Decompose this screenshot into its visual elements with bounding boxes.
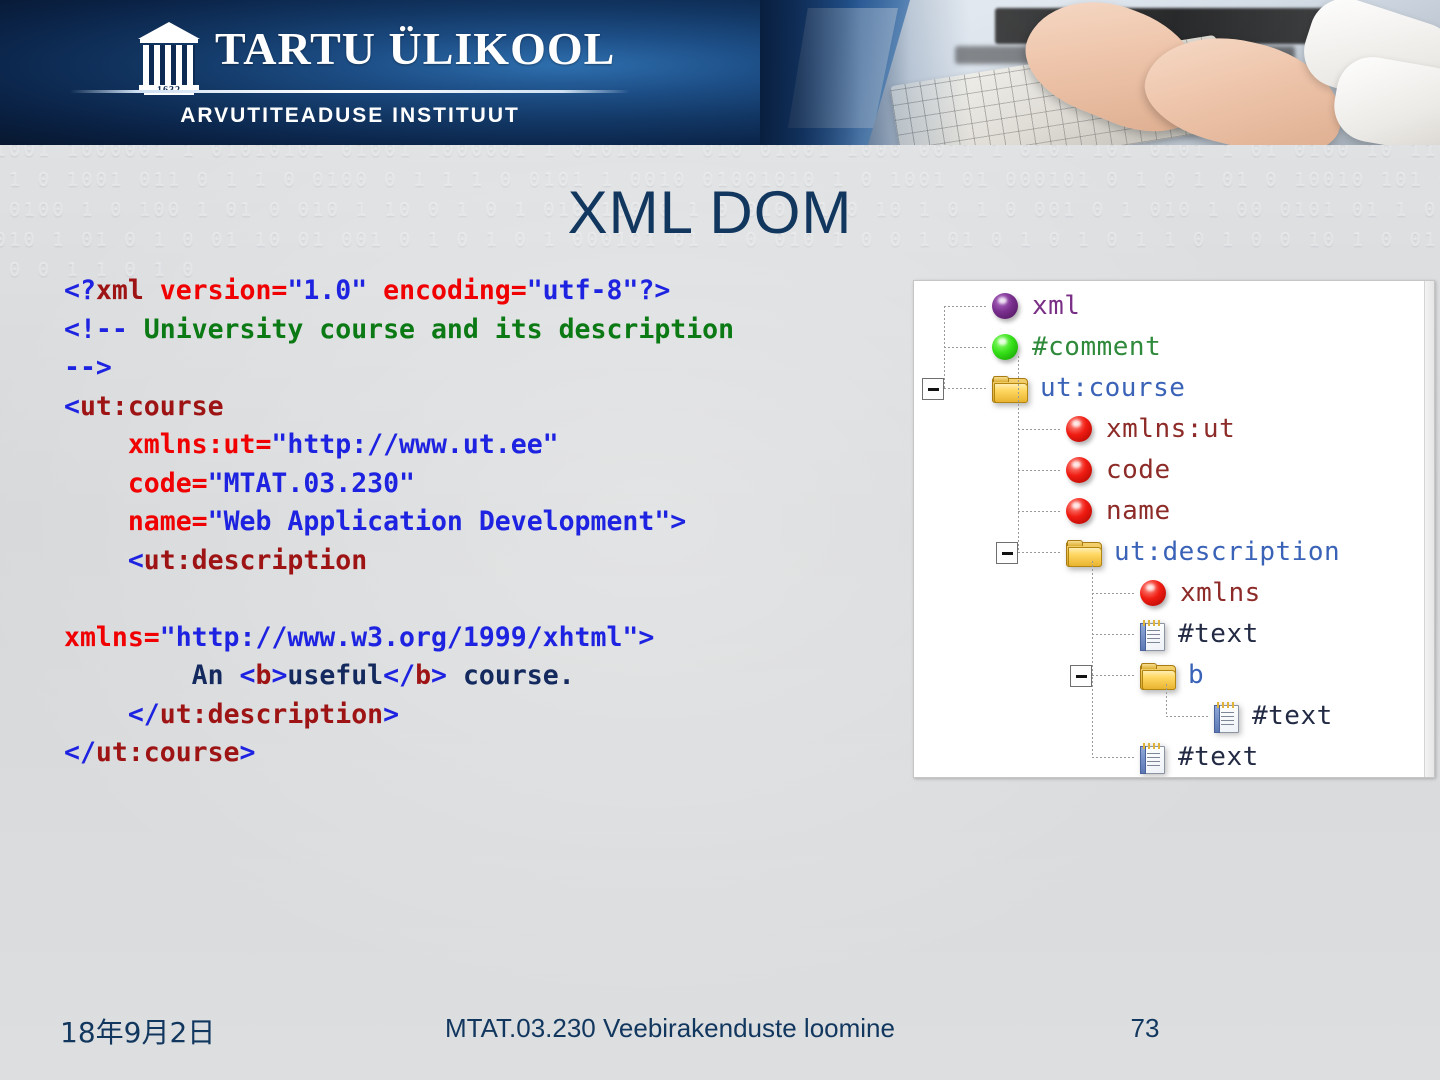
tree-node[interactable]: #text bbox=[1140, 615, 1259, 653]
tree-node-label: xmlns bbox=[1180, 578, 1261, 608]
code-token: ut:description bbox=[144, 545, 367, 576]
university-name: TARTU ÜLIKOOL bbox=[215, 22, 615, 75]
tree-node[interactable]: name bbox=[1066, 492, 1171, 530]
dom-tree[interactable]: xml#commentut:coursexmlns:utcodenameut:d… bbox=[914, 281, 1419, 777]
code-token: encoding= bbox=[383, 275, 527, 306]
code-line: xmlns:ut="http://www.ut.ee" bbox=[64, 426, 924, 465]
code-token bbox=[64, 699, 128, 730]
code-token: ut:description bbox=[160, 699, 383, 730]
minus-bar bbox=[928, 388, 939, 391]
code-token: version= bbox=[160, 275, 288, 306]
red-sphere-icon bbox=[1066, 416, 1092, 442]
folder-icon bbox=[1140, 663, 1174, 688]
notepad-spine bbox=[1214, 705, 1220, 733]
tree-node[interactable]: b bbox=[1140, 656, 1204, 694]
tree-connector-vertical bbox=[944, 306, 945, 388]
code-token: </ bbox=[64, 737, 96, 768]
code-token: course. bbox=[447, 660, 575, 691]
code-token bbox=[64, 468, 128, 499]
code-token: ut:course bbox=[96, 737, 240, 768]
header-photo bbox=[760, 0, 1440, 145]
code-token: < bbox=[128, 545, 144, 576]
university-crest-icon: 1632 bbox=[138, 22, 200, 100]
tree-expander-minus-icon[interactable] bbox=[996, 542, 1018, 564]
notepad-lines bbox=[1147, 630, 1160, 645]
code-token: An bbox=[64, 660, 240, 691]
folder-front bbox=[1142, 670, 1176, 690]
notepad-lines bbox=[1221, 712, 1234, 727]
slide-footer: 18年9月2日 MTAT.03.230 Veebirakenduste loom… bbox=[0, 1005, 1440, 1060]
tree-node-label: xml bbox=[1032, 291, 1080, 321]
tree-node-label: name bbox=[1106, 496, 1171, 526]
code-token: <? bbox=[64, 275, 96, 306]
purple-sphere-icon bbox=[992, 293, 1018, 319]
tree-connector bbox=[1018, 429, 1062, 430]
footer-date: 18年9月2日 bbox=[60, 1011, 215, 1051]
slide-root: 01001 1000001 1 01010101 01001 1000001 1… bbox=[0, 0, 1440, 1080]
folder-icon bbox=[992, 376, 1026, 401]
tree-node-label: #text bbox=[1252, 701, 1333, 731]
code-token: > bbox=[670, 506, 686, 537]
code-token: xml bbox=[96, 275, 160, 306]
notepad-icon bbox=[1140, 743, 1164, 772]
tree-connector-vertical bbox=[1092, 561, 1093, 757]
tree-connector bbox=[944, 306, 988, 307]
code-token: name= bbox=[128, 506, 208, 537]
tree-node[interactable]: code bbox=[1066, 451, 1171, 489]
folder-tab bbox=[1067, 540, 1083, 546]
tree-connector bbox=[1018, 470, 1062, 471]
notepad-icon bbox=[1214, 702, 1238, 731]
notepad-rings bbox=[1217, 702, 1237, 708]
code-token: University course and its description bbox=[144, 314, 734, 345]
tree-node[interactable]: xmlns:ut bbox=[1066, 410, 1235, 448]
folder-tab bbox=[1141, 663, 1157, 669]
tree-connector bbox=[944, 347, 988, 348]
minus-bar bbox=[1002, 552, 1013, 555]
code-token: > bbox=[431, 660, 447, 691]
folder-front bbox=[994, 383, 1028, 403]
code-token: "1.0" bbox=[287, 275, 383, 306]
folder-front bbox=[1068, 547, 1102, 567]
tree-connector-vertical bbox=[1166, 684, 1167, 716]
tree-connector bbox=[1092, 675, 1136, 676]
tree-node[interactable]: #text bbox=[1140, 738, 1259, 776]
code-token: > bbox=[271, 660, 287, 691]
tree-connector bbox=[1092, 634, 1136, 635]
code-line: <!-- University course and its descripti… bbox=[64, 311, 924, 350]
folder-tab bbox=[993, 376, 1009, 382]
minus-bar bbox=[1076, 675, 1087, 678]
code-line: code="MTAT.03.230" bbox=[64, 465, 924, 504]
code-token: b bbox=[415, 660, 431, 691]
institute-name: ARVUTITEADUSE INSTITUUT bbox=[70, 104, 630, 128]
tree-node[interactable]: xml bbox=[992, 287, 1080, 325]
tree-connector bbox=[1166, 716, 1210, 717]
code-token: ?> bbox=[638, 275, 670, 306]
tree-node[interactable]: #text bbox=[1214, 697, 1333, 735]
footer-page-number: 73 bbox=[1060, 1013, 1230, 1044]
tree-expander-minus-icon[interactable] bbox=[1070, 665, 1092, 687]
green-sphere-icon bbox=[992, 334, 1018, 360]
notepad-spine bbox=[1140, 623, 1146, 651]
dom-tree-panel[interactable]: xml#commentut:coursexmlns:utcodenameut:d… bbox=[913, 280, 1435, 778]
code-line: --> bbox=[64, 349, 924, 388]
tree-connector bbox=[944, 388, 988, 389]
code-line bbox=[64, 580, 924, 619]
folder-icon bbox=[1066, 540, 1100, 565]
code-token bbox=[64, 583, 80, 614]
tree-node-label: ut:course bbox=[1040, 373, 1185, 403]
code-token: code= bbox=[128, 468, 208, 499]
code-token: < bbox=[64, 391, 80, 422]
code-token: > bbox=[383, 699, 399, 730]
code-token: useful bbox=[287, 660, 383, 691]
tree-expander-minus-icon[interactable] bbox=[922, 378, 944, 400]
page-title: XML DOM bbox=[330, 178, 1090, 247]
tree-connector bbox=[1092, 593, 1136, 594]
notepad-icon bbox=[1140, 620, 1164, 649]
code-token: b bbox=[255, 660, 271, 691]
tree-node-label: #comment bbox=[1032, 332, 1161, 362]
university-logo: 1632 TARTU ÜLIKOOL ARVUTITEADUSE INSTITU… bbox=[70, 16, 630, 126]
tree-connector bbox=[1018, 552, 1062, 553]
code-token: < bbox=[240, 660, 256, 691]
code-token: xmlns= bbox=[64, 622, 160, 653]
code-line: <ut:course bbox=[64, 388, 924, 427]
code-token bbox=[64, 506, 128, 537]
code-line: xmlns="http://www.w3.org/1999/xhtml"> bbox=[64, 619, 924, 658]
red-sphere-icon bbox=[1066, 457, 1092, 483]
tree-node[interactable]: ut:course bbox=[992, 369, 1185, 407]
crest-columns bbox=[143, 45, 195, 85]
code-token: > bbox=[638, 622, 654, 653]
tree-node-label: #text bbox=[1178, 619, 1259, 649]
notepad-rings bbox=[1143, 620, 1163, 626]
tree-node-label: #text bbox=[1178, 742, 1259, 772]
tree-node-label: ut:description bbox=[1114, 537, 1340, 567]
logo-divider bbox=[70, 90, 630, 93]
red-sphere-icon bbox=[1066, 498, 1092, 524]
code-token: > bbox=[240, 737, 256, 768]
code-token: "http://www.ut.ee" bbox=[271, 429, 558, 460]
code-token bbox=[64, 429, 128, 460]
code-token: <!-- bbox=[64, 314, 144, 345]
code-token: xmlns:ut= bbox=[128, 429, 272, 460]
code-line: <ut:description bbox=[64, 542, 924, 581]
tree-node[interactable]: xmlns bbox=[1140, 574, 1261, 612]
footer-course: MTAT.03.230 Veebirakenduste loomine bbox=[300, 1013, 1040, 1044]
code-token bbox=[64, 545, 128, 576]
code-line: An <b>useful</b> course. bbox=[64, 657, 924, 696]
tree-node[interactable]: ut:description bbox=[1066, 533, 1340, 571]
tree-node-label: code bbox=[1106, 455, 1171, 485]
code-token: "utf-8" bbox=[527, 275, 639, 306]
code-line: </ut:description> bbox=[64, 696, 924, 735]
crest-roof bbox=[138, 22, 200, 39]
code-token: "http://www.w3.org/1999/xhtml" bbox=[160, 622, 639, 653]
code-token: --> bbox=[64, 352, 112, 383]
photo-fade-overlay bbox=[760, 0, 970, 145]
code-line: </ut:course> bbox=[64, 734, 924, 773]
code-token: "MTAT.03.230" bbox=[208, 468, 415, 499]
tree-connector bbox=[1092, 757, 1136, 758]
notepad-lines bbox=[1147, 753, 1160, 768]
red-sphere-icon bbox=[1140, 580, 1166, 606]
code-token: "Web Application Development" bbox=[208, 506, 671, 537]
tree-scrollbar[interactable] bbox=[1424, 281, 1434, 777]
xml-code-block: <?xml version="1.0" encoding="utf-8"?><!… bbox=[64, 272, 924, 773]
code-token: </ bbox=[128, 699, 160, 730]
tree-node-label: xmlns:ut bbox=[1106, 414, 1235, 444]
tree-connector bbox=[1018, 511, 1062, 512]
slide-header: 1632 TARTU ÜLIKOOL ARVUTITEADUSE INSTITU… bbox=[0, 0, 1440, 145]
tree-node-label: b bbox=[1188, 660, 1204, 690]
code-token: </ bbox=[383, 660, 415, 691]
code-token: ut:course bbox=[80, 391, 224, 422]
notepad-spine bbox=[1140, 746, 1146, 774]
crest-architrave bbox=[140, 38, 198, 43]
code-line: name="Web Application Development"> bbox=[64, 503, 924, 542]
code-line: <?xml version="1.0" encoding="utf-8"?> bbox=[64, 272, 924, 311]
tree-connector-vertical bbox=[1018, 356, 1019, 552]
notepad-rings bbox=[1143, 743, 1163, 749]
